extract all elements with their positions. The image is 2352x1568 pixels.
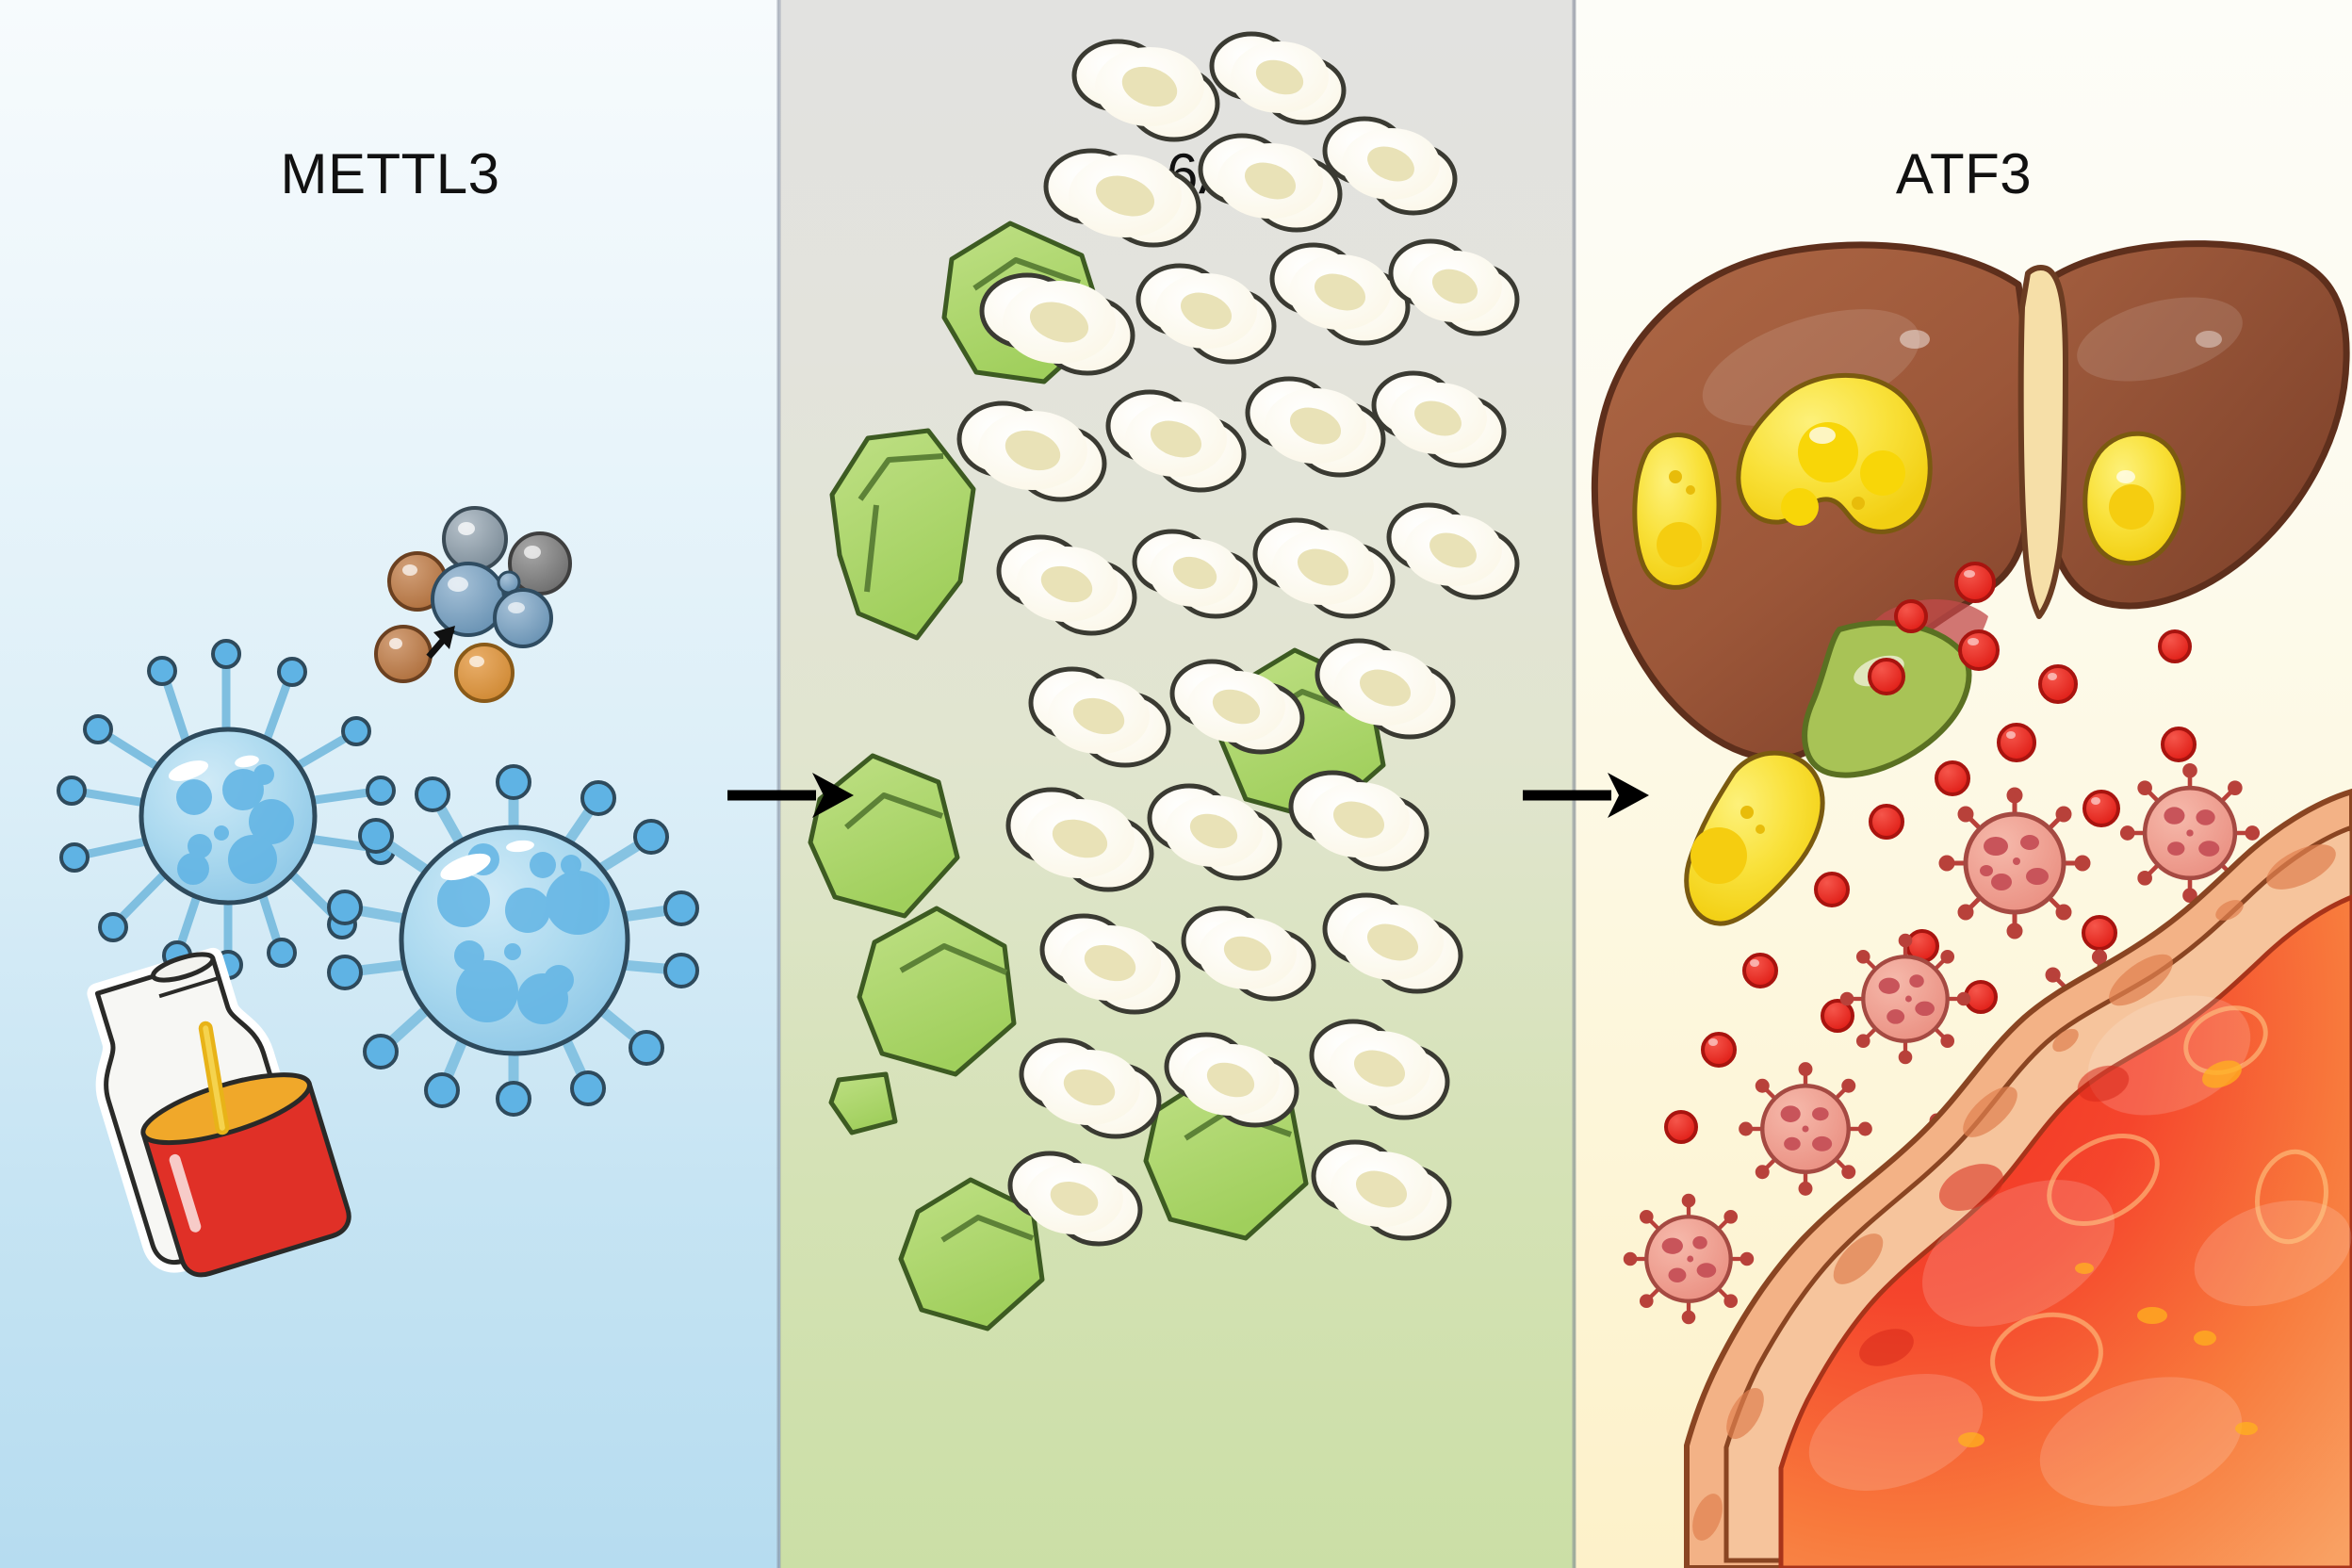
panel-mettl3: METTL3 (0, 0, 780, 1568)
panel-atf3: ATF3 (1576, 0, 2352, 1568)
right-panel-graphics (1576, 0, 2352, 1568)
arrow-left-to-middle (726, 765, 857, 825)
virus-particle-pink (1740, 1064, 1870, 1193)
arrow-middle-to-right (1521, 765, 1653, 825)
mid-panel-graphics (780, 0, 1576, 1568)
lymphocyte-cell-group (959, 34, 1517, 1244)
hepatocyte-green-cell (832, 431, 973, 638)
fat-deposit (1687, 753, 1822, 923)
panel-m6a: m6A (780, 0, 1576, 1568)
hepatocyte-green-cell (859, 908, 1014, 1074)
virus-particle-pink (1941, 790, 2088, 937)
virus-particle-small (58, 641, 394, 978)
molecule-cluster (376, 508, 570, 701)
virus-particle-pink (1842, 936, 1968, 1062)
left-panel-graphics (0, 0, 780, 1568)
fat-deposit (2085, 433, 2183, 563)
hepatocyte-green-cell (831, 1074, 895, 1133)
fat-deposit (1635, 435, 1719, 588)
figure-root: METTL3 (0, 0, 2352, 1568)
bottle-icon (74, 933, 353, 1287)
virus-particle-pink (1625, 1196, 1752, 1322)
virus-particle-large (329, 766, 697, 1115)
pointer-arrow-small (429, 626, 455, 657)
gallbladder (1805, 623, 1968, 775)
